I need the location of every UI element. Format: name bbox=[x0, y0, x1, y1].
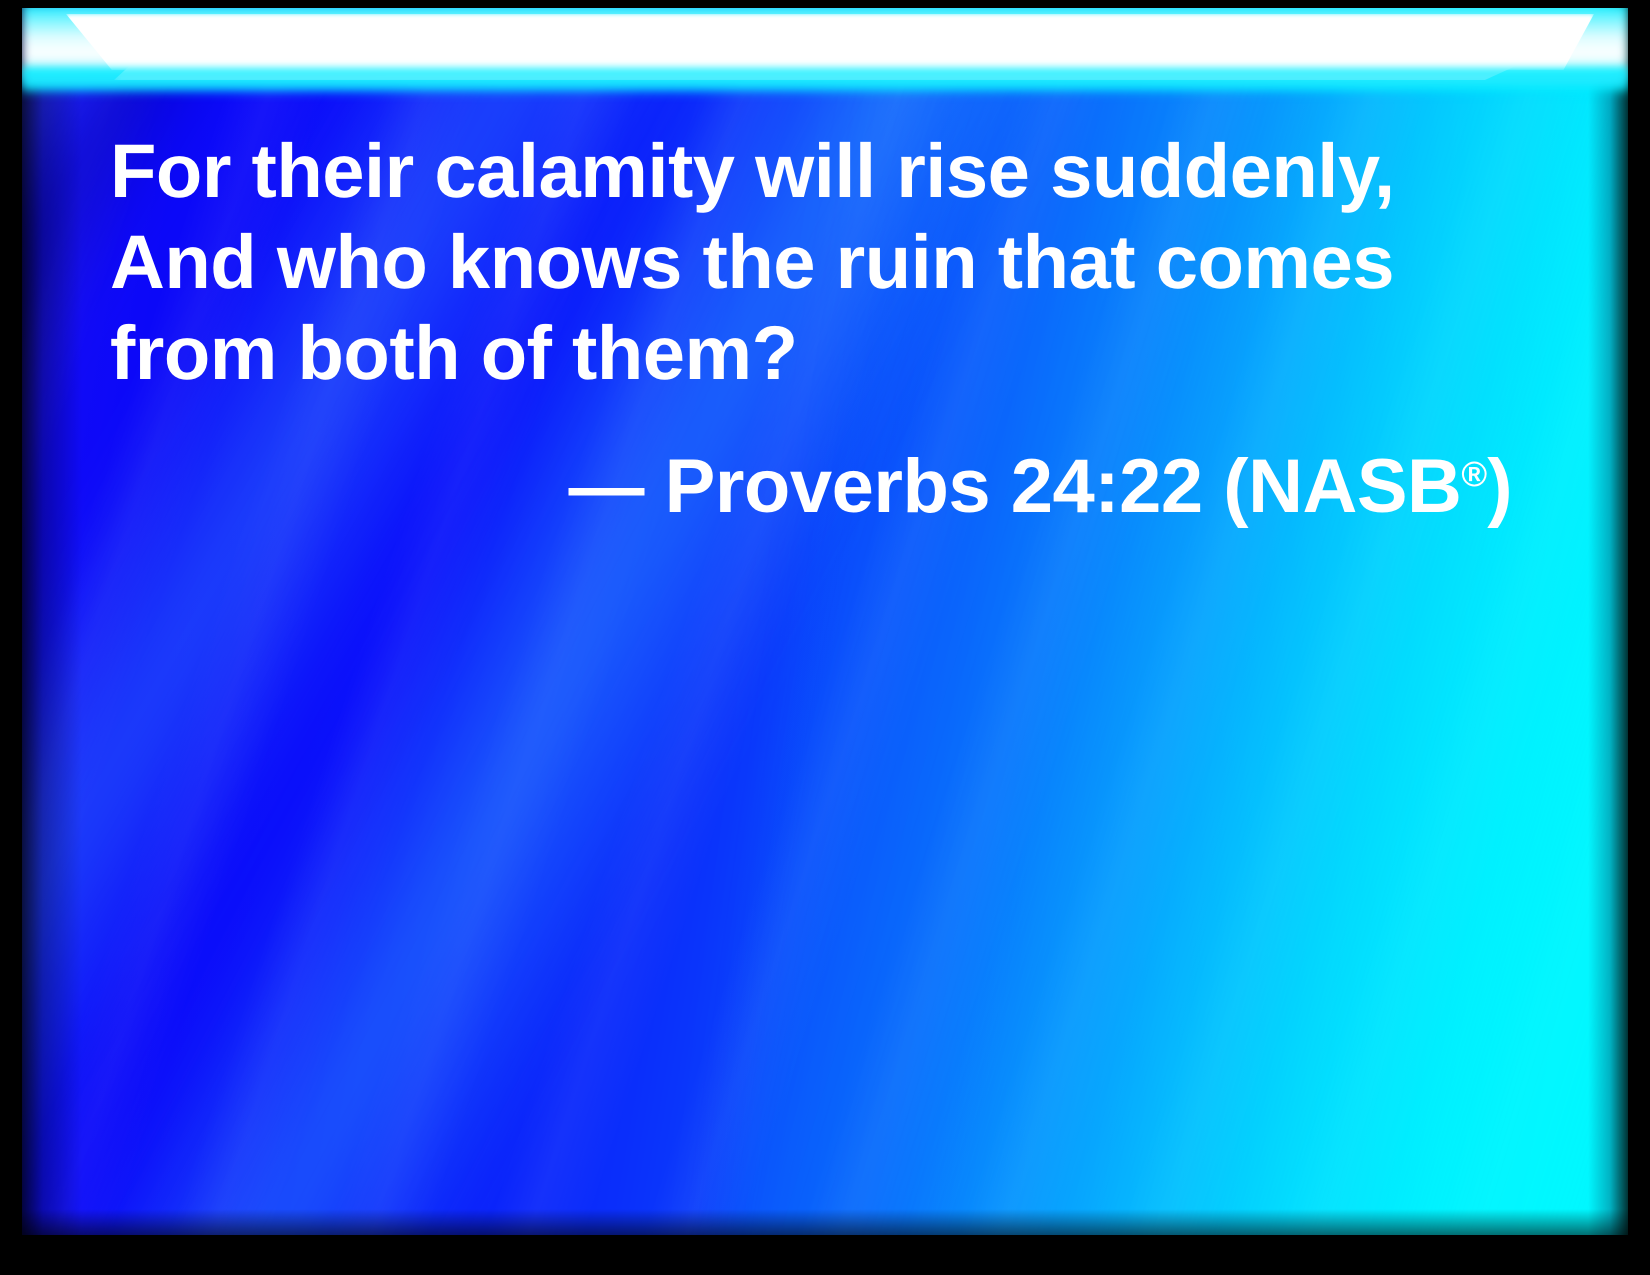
slide-canvas: For their calamity will rise suddenly, A… bbox=[22, 8, 1628, 1235]
verse-block: For their calamity will rise suddenly, A… bbox=[110, 126, 1530, 529]
registered-trademark-icon: ® bbox=[1461, 455, 1487, 494]
attribution-dash: — bbox=[569, 444, 645, 529]
top-banner-band bbox=[22, 8, 1628, 94]
slide-frame: For their calamity will rise suddenly, A… bbox=[0, 0, 1650, 1275]
background-bottom-vignette bbox=[22, 1209, 1628, 1235]
attribution-reference: Proverbs 24:22 (NASB bbox=[644, 444, 1461, 529]
verse-text: For their calamity will rise suddenly, A… bbox=[110, 126, 1530, 399]
attribution-close-paren: ) bbox=[1487, 444, 1512, 529]
top-banner-cyan-edge bbox=[22, 68, 1628, 90]
background-right-vignette bbox=[1588, 8, 1628, 1235]
verse-attribution: — Proverbs 24:22 (NASB®) bbox=[110, 433, 1530, 529]
background-left-vignette bbox=[22, 8, 82, 1235]
